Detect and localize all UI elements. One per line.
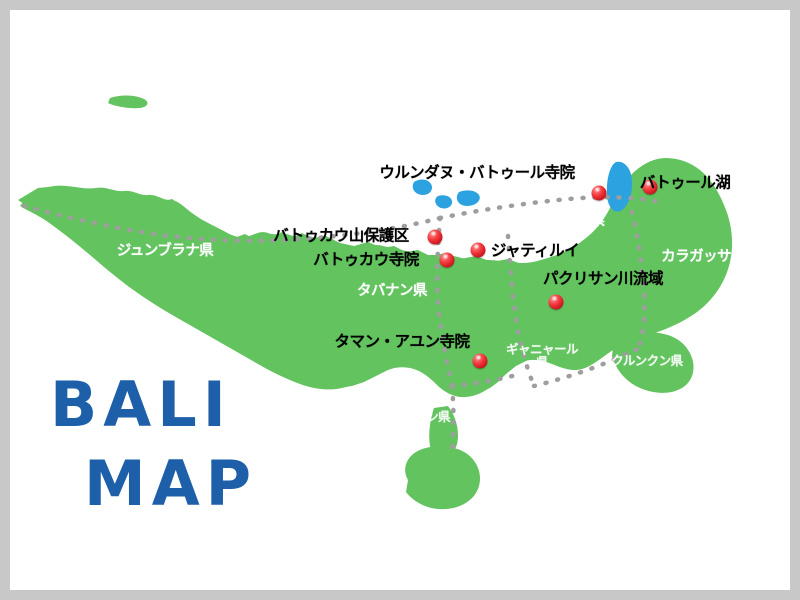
regency-label-klungkung: クルンクン県 xyxy=(611,355,682,368)
poi-label-taman-ayun-temple: タマン・アユン寺院 xyxy=(334,334,469,350)
regency-label-badung: バドゥン県 xyxy=(390,411,450,424)
regency-label-denpasar: デンパサール県 xyxy=(531,424,615,437)
pin-taman-ayun-temple[interactable] xyxy=(473,354,488,369)
pin-batukaru-reserve[interactable] xyxy=(428,230,443,245)
poi-label-batukaru-reserve: バトゥカウ山保護区 xyxy=(273,228,408,244)
lake-tamblingan xyxy=(435,195,452,208)
regency-label-jembrana: ジュンブラナ県 xyxy=(117,244,214,259)
screenshot-root: ウルンダヌ・バトゥール寺院 バトゥール湖 バトゥカウ山保護区 バトゥカウ寺院 ジ… xyxy=(0,0,800,600)
map-title-line2: MAP xyxy=(84,444,257,523)
regency-label-karangasem: カラガッサム県 xyxy=(661,250,759,265)
map-title-line1: BALI xyxy=(50,368,232,441)
map-canvas: ウルンダヌ・バトゥール寺院 バトゥール湖 バトゥカウ山保護区 バトゥカウ寺院 ジ… xyxy=(10,10,790,590)
poi-label-batukaru-temple: バトゥカウ寺院 xyxy=(313,252,418,268)
pin-batur-west[interactable] xyxy=(592,186,607,201)
regency-label-buleleng: ブレレン県 xyxy=(203,165,273,180)
regency-label-bangli: バンリ県 xyxy=(548,214,605,229)
lake-buyan xyxy=(457,190,480,206)
pin-pakerisan-basin[interactable] xyxy=(549,295,564,310)
poi-label-lake-batur: バトゥール湖 xyxy=(640,175,730,191)
lake-beratan xyxy=(413,180,432,195)
poi-label-jatiluwih: ジャティルイ xyxy=(491,243,579,259)
pin-batukaru-temple[interactable] xyxy=(440,253,455,268)
regency-label-tabanan: タバナン県 xyxy=(357,284,427,299)
tiny-islet-north xyxy=(108,95,147,108)
poi-label-ulun-danu-batur: ウルンダヌ・バトゥール寺院 xyxy=(379,165,574,181)
map-title: BALIMAP xyxy=(50,365,257,524)
regency-label-gianyar: ギャニャール県 xyxy=(503,344,581,369)
poi-label-pakerisan-basin: パクリサン川流域 xyxy=(543,271,663,287)
pin-jatiluwih[interactable] xyxy=(471,243,486,258)
